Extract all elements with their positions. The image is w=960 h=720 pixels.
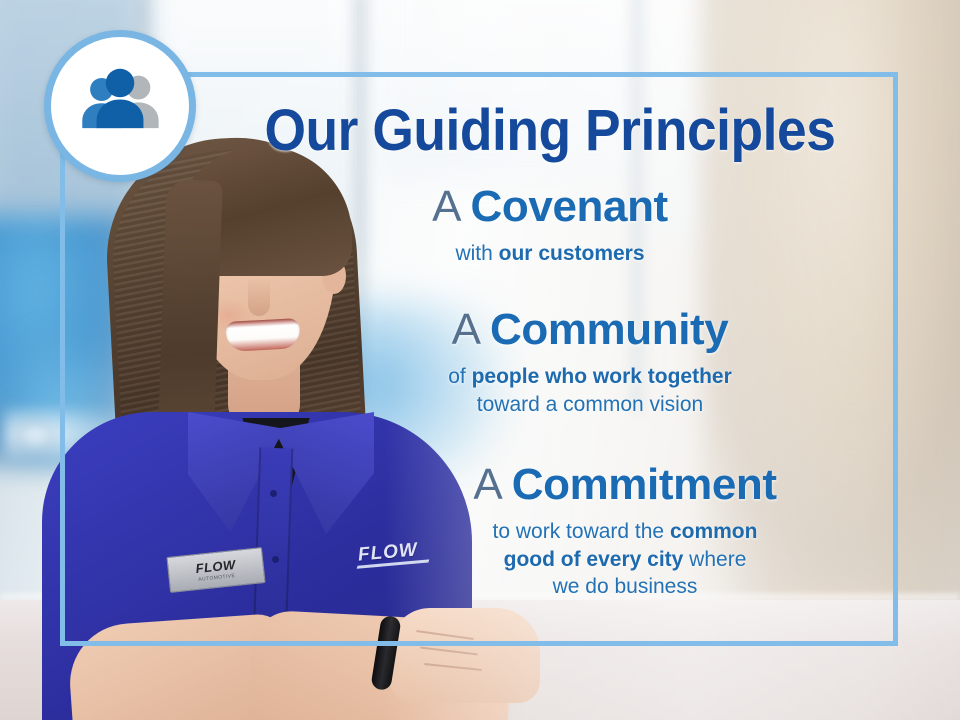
community-sub-regular: of <box>448 365 471 388</box>
covenant-sub-regular: with <box>455 242 498 265</box>
principle-covenant-sub: with our customers <box>200 240 900 268</box>
principle-commitment-heading: A Commitment <box>350 462 900 509</box>
principle-commitment-lead: A <box>473 460 500 509</box>
community-sub-line-1: of people who work together <box>280 363 900 391</box>
people-group-badge <box>44 30 196 182</box>
page-title: Our Guiding Principles <box>228 102 872 160</box>
principle-covenant-lead: A <box>432 182 459 231</box>
principle-commitment-key: Commitment <box>512 460 777 509</box>
guiding-principles-graphic: FLOW FLOW AUTOMOTIVE <box>0 0 960 720</box>
principle-commitment: A Commitment to work toward the common g… <box>200 462 900 601</box>
community-sub-line-2: toward a common vision <box>280 391 900 419</box>
commitment-line2-bold: good of every city <box>504 548 684 571</box>
principle-community-lead: A <box>452 305 479 354</box>
commitment-line1-regular: to work toward the <box>493 520 670 543</box>
community-sub-bold: people who work together <box>472 365 732 388</box>
principle-community: A Community of people who work together … <box>200 307 900 418</box>
text-content: Our Guiding Principles A Covenant with o… <box>200 84 900 644</box>
commitment-sub-line-3: we do business <box>425 573 825 601</box>
principle-covenant-key: Covenant <box>471 182 668 231</box>
principle-covenant-heading: A Covenant <box>200 184 900 231</box>
commitment-sub-line-1: to work toward the common <box>425 518 825 546</box>
principle-covenant: A Covenant with our customers <box>200 184 900 267</box>
covenant-sub-bold: our customers <box>499 242 645 265</box>
principle-commitment-sub: to work toward the common good of every … <box>425 518 825 601</box>
commitment-sub-line-2: good of every city where <box>425 546 825 574</box>
principle-community-key: Community <box>490 305 728 354</box>
principle-community-heading: A Community <box>280 307 900 354</box>
principle-community-sub: of people who work together toward a com… <box>280 363 900 418</box>
people-group-icon <box>74 60 166 152</box>
commitment-line1-bold: common <box>670 520 758 543</box>
commitment-line2-regular: where <box>683 548 746 571</box>
